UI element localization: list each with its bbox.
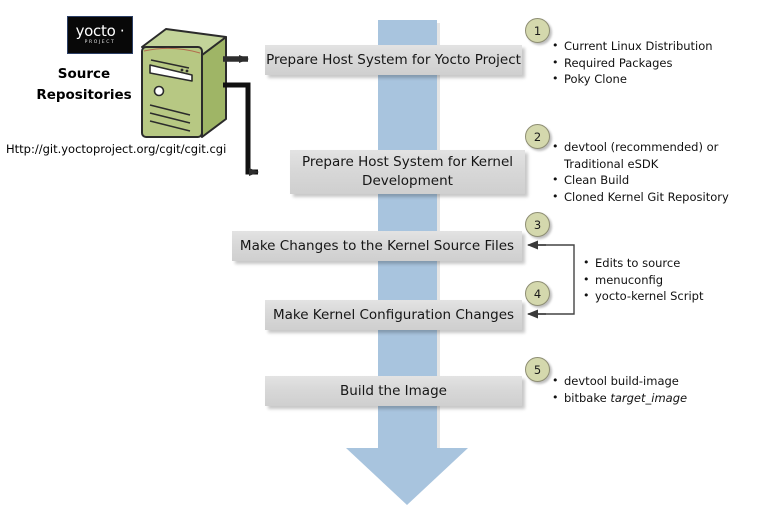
notes-step-2-list: devtool (recommended) or Traditional eSD…: [552, 139, 764, 205]
process-box-build-image[interactable]: Build the Image: [265, 376, 522, 406]
notes-step-5: devtool build-image bitbake target_image: [552, 373, 764, 406]
step-badge-3: 3: [525, 212, 550, 237]
list-item: Poky Clone: [552, 71, 764, 88]
source-repositories-label: Source Repositories: [24, 64, 144, 106]
notes-step-5-list: devtool build-image bitbake target_image: [552, 373, 764, 406]
list-item: devtool (recommended) or Traditional eSD…: [552, 139, 764, 172]
list-item: Clean Build: [552, 172, 764, 189]
notes-step-1: Current Linux Distribution Required Pack…: [552, 38, 764, 88]
list-item: Current Linux Distribution: [552, 38, 764, 55]
server-tower-icon: [134, 27, 230, 145]
list-item-text: devtool build-image: [564, 374, 679, 388]
list-item: yocto-kernel Script: [583, 288, 763, 305]
workflow-spine-arrowhead: [346, 448, 468, 505]
process-box-prepare-host-kernel[interactable]: Prepare Host System for Kernel Developme…: [290, 150, 525, 194]
process-box-kernel-config-changes[interactable]: Make Kernel Configuration Changes: [265, 300, 522, 330]
notes-step-2: devtool (recommended) or Traditional eSD…: [552, 139, 764, 205]
list-item: Cloned Kernel Git Repository: [552, 189, 764, 206]
yocto-project-logo: yocto · PROJECT: [67, 16, 133, 54]
step-badge-1: 1: [525, 18, 550, 43]
step-badge-5: 5: [525, 357, 550, 382]
list-item: bitbake target_image: [552, 390, 764, 407]
list-item: Edits to source: [583, 255, 763, 272]
notes-steps-3-and-4-list: Edits to source menuconfig yocto-kernel …: [583, 255, 763, 305]
step-badge-4: 4: [525, 281, 550, 306]
source-repositories-label-line1: Source: [24, 64, 144, 85]
list-item: menuconfig: [583, 272, 763, 289]
yocto-logo-wordmark: yocto ·: [76, 24, 125, 39]
list-item-emphasis: target_image: [610, 391, 687, 405]
list-item: Required Packages: [552, 55, 764, 72]
notes-steps-3-and-4: Edits to source menuconfig yocto-kernel …: [583, 255, 763, 305]
list-item: devtool build-image: [552, 373, 764, 390]
notes-step-1-list: Current Linux Distribution Required Pack…: [552, 38, 764, 88]
yocto-logo-subtext: PROJECT: [85, 40, 116, 46]
process-box-prepare-host-yocto[interactable]: Prepare Host System for Yocto Project: [265, 45, 522, 75]
diagram-canvas: yocto · PROJECT Source Repositories Http…: [0, 0, 769, 517]
step-badge-2: 2: [525, 124, 550, 149]
source-repositories-label-line2: Repositories: [24, 85, 144, 106]
list-item-text: bitbake: [564, 391, 610, 405]
process-box-kernel-source-changes[interactable]: Make Changes to the Kernel Source Files: [232, 231, 522, 261]
